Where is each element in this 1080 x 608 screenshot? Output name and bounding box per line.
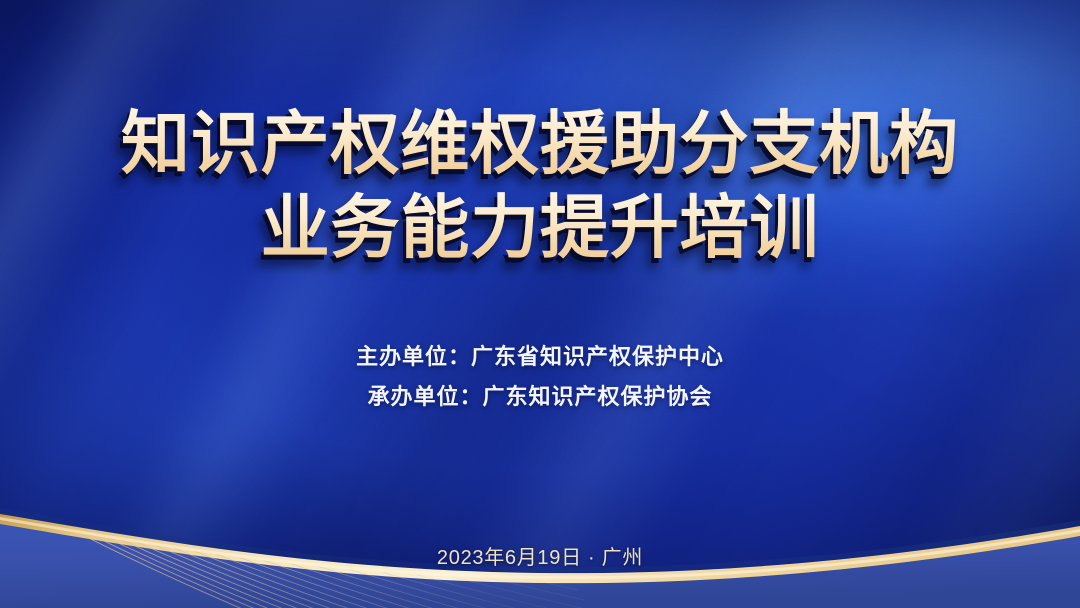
organizer-block: 主办单位：广东省知识产权保护中心 承办单位：广东知识产权保护协会: [0, 337, 1080, 417]
co-organizer-organization: 承办单位：广东知识产权保护协会: [0, 377, 1080, 417]
date-location-footer: 2023年6月19日 · 广州: [0, 541, 1080, 570]
silk-sheen-highlight: [0, 0, 1080, 547]
poster-title: 知识产权维权援助分支机构 业务能力提升培训: [0, 104, 1080, 268]
title-line-2: 业务能力提升培训: [0, 188, 1080, 268]
title-line-1: 知识产权维权援助分支机构: [0, 104, 1080, 184]
host-organization: 主办单位：广东省知识产权保护中心: [0, 337, 1080, 377]
event-poster: 知识产权维权援助分支机构 业务能力提升培训 主办单位：广东省知识产权保护中心 承…: [0, 0, 1080, 608]
